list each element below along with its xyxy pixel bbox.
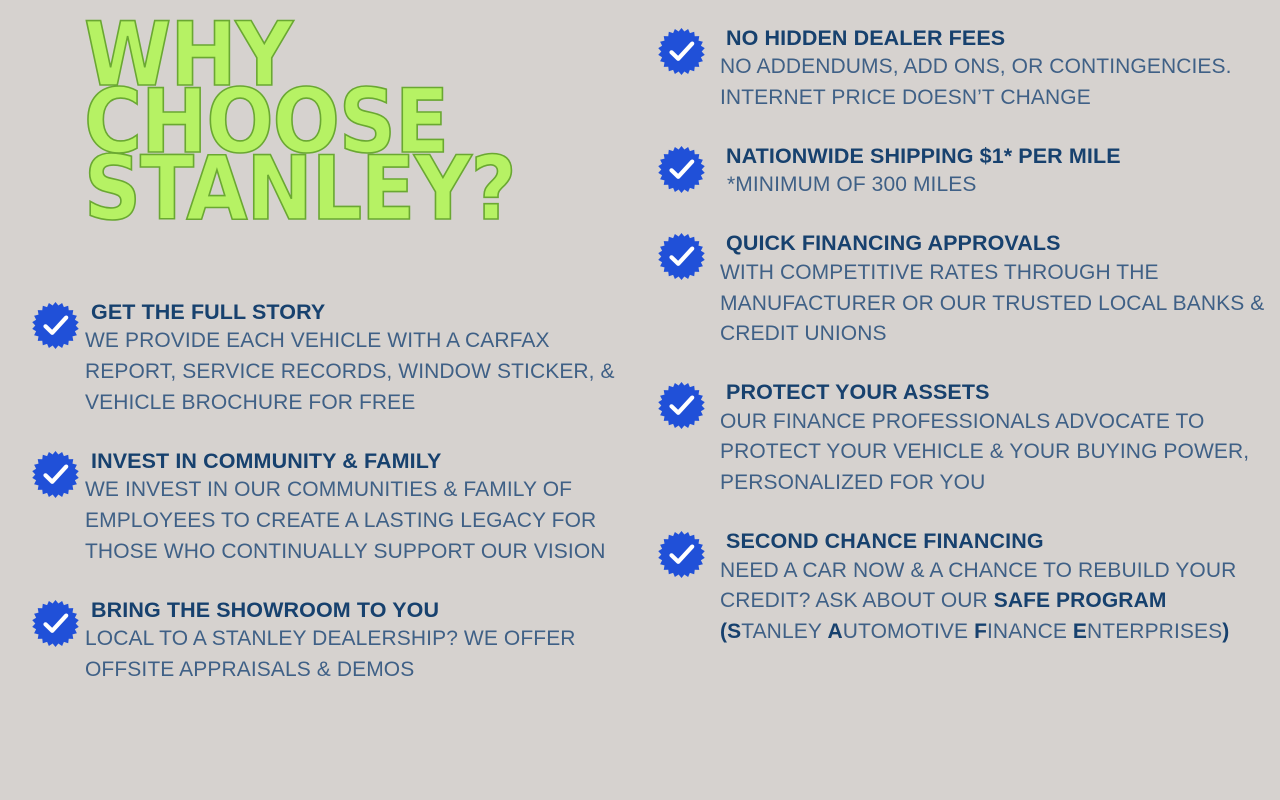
headline-line-3: STANLEY? <box>84 156 604 223</box>
verified-check-badge-icon <box>32 600 79 647</box>
verified-check-badge-icon <box>658 146 705 193</box>
feature-body: OUR FINANCE PROFESSIONALS ADVOCATE TO PR… <box>720 407 1270 500</box>
feature-item: INVEST IN COMMUNITY & FAMILYWE INVEST IN… <box>0 449 620 568</box>
verified-check-badge-icon <box>32 302 79 349</box>
feature-item: NO HIDDEN DEALER FEESNO ADDENDUMS, ADD O… <box>650 26 1270 114</box>
feature-title: GET THE FULL STORY <box>91 300 620 325</box>
why-choose-stanley-graphic: WHY CHOOSE STANLEY? GET THE FULL STORYWE… <box>0 0 1280 800</box>
feature-title: BRING THE SHOWROOM TO YOU <box>91 598 620 623</box>
verified-check-badge-icon <box>658 233 705 280</box>
feature-body: LOCAL TO A STANLEY DEALERSHIP? WE OFFER … <box>85 624 620 686</box>
page-title: WHY CHOOSE STANLEY? <box>84 22 604 223</box>
feature-item: SECOND CHANCE FINANCINGNEED A CAR NOW & … <box>650 529 1270 648</box>
feature-body: WE PROVIDE EACH VEHICLE WITH A CARFAX RE… <box>85 326 620 419</box>
feature-body: WITH COMPETITIVE RATES THROUGH THE MANUF… <box>720 258 1270 351</box>
verified-check-badge-icon <box>658 531 705 578</box>
feature-item: PROTECT YOUR ASSETSOUR FINANCE PROFESSIO… <box>650 380 1270 499</box>
feature-body: WE INVEST IN OUR COMMUNITIES & FAMILY OF… <box>85 475 620 568</box>
feature-item: BRING THE SHOWROOM TO YOULOCAL TO A STAN… <box>0 598 620 686</box>
verified-check-badge-icon <box>658 28 705 75</box>
verified-check-badge-icon <box>658 382 705 429</box>
feature-title: NATIONWIDE SHIPPING $1* PER MILE <box>726 144 1270 169</box>
feature-body: *MINIMUM OF 300 MILES <box>720 170 1270 201</box>
feature-body: NEED A CAR NOW & A CHANCE TO REBUILD YOU… <box>720 556 1270 649</box>
feature-title: QUICK FINANCING APPROVALS <box>726 231 1270 256</box>
right-feature-column: NO HIDDEN DEALER FEESNO ADDENDUMS, ADD O… <box>650 26 1270 678</box>
feature-item: GET THE FULL STORYWE PROVIDE EACH VEHICL… <box>0 300 620 419</box>
feature-item: QUICK FINANCING APPROVALSWITH COMPETITIV… <box>650 231 1270 350</box>
feature-item: NATIONWIDE SHIPPING $1* PER MILE *MINIMU… <box>650 144 1270 201</box>
feature-title: SECOND CHANCE FINANCING <box>726 529 1270 554</box>
feature-title: NO HIDDEN DEALER FEES <box>726 26 1270 51</box>
left-feature-column: GET THE FULL STORYWE PROVIDE EACH VEHICL… <box>0 300 620 716</box>
feature-title: PROTECT YOUR ASSETS <box>726 380 1270 405</box>
feature-body: NO ADDENDUMS, ADD ONS, OR CONTINGENCIES.… <box>720 52 1270 114</box>
feature-title: INVEST IN COMMUNITY & FAMILY <box>91 449 620 474</box>
verified-check-badge-icon <box>32 451 79 498</box>
